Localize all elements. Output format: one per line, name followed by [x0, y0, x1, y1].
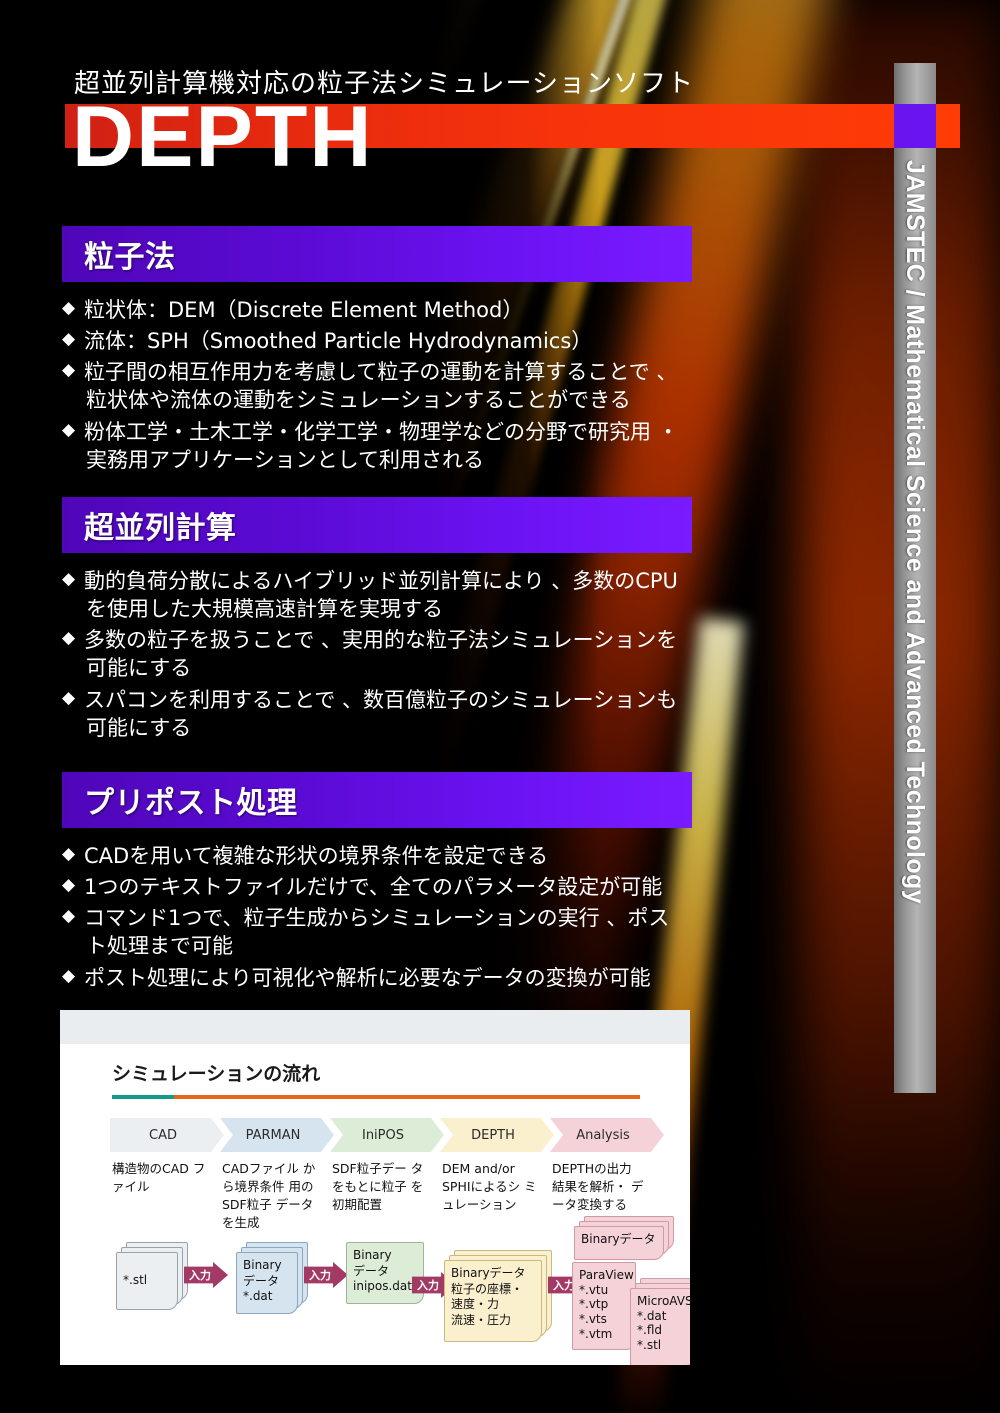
bullet-line-2: 可能にする [84, 714, 692, 742]
flow-step-label: Analysis [576, 1128, 638, 1143]
bullet-line-2: 可能にする [84, 654, 692, 682]
file-analysis-binary: Binaryデータ [574, 1226, 664, 1260]
section-massively-parallel: 超並列計算 ◆ 動的負荷分散によるハイブリッド並列計算により 、多数のCPU を… [62, 497, 692, 745]
file-analysis-paraview: ParaView *.vtu *.vtp *.vts *.vtm [572, 1262, 636, 1350]
file-depth: Binaryデータ 粒子の座標・ 速度・力 流速・圧力 [444, 1260, 542, 1342]
diamond-bullet-icon: ◆ [62, 626, 84, 652]
arrow-label: 入力 [309, 1267, 331, 1283]
bullet-line-2: 粒状体や流体の運動をシミュレーションすることができる [84, 386, 692, 414]
file-label: *.stl [123, 1273, 147, 1289]
flow-step-label: IniPOS [362, 1128, 412, 1143]
arrow-input-2: 入力 [304, 1262, 348, 1288]
diamond-bullet-icon: ◆ [62, 358, 84, 384]
section-title-1: 粒子法 [84, 232, 176, 276]
bullet-line: 粉体工学・土木工学・化学工学・物理学などの分野で研究用 ・ [84, 420, 679, 444]
diamond-bullet-icon: ◆ [62, 964, 84, 990]
flow-desc-inipos: SDF粒子デー タをもとに粒子 を初期配置 [332, 1160, 428, 1214]
bullet-line: 流体：SPH（Smoothed Particle Hydrodynamics） [84, 329, 592, 353]
flow-steps: CAD PARMAN IniPOS DEPTH Analysis [110, 1118, 645, 1152]
bullet-line: ポスト処理により可視化や解析に必要なデータの変換が可能 [84, 966, 651, 990]
file-analysis-microavs: MicroAVS *.dat *.fld *.stl [630, 1288, 690, 1365]
section-header-1: 粒子法 [62, 226, 692, 282]
bullet-line: 1つのテキストファイルだけで、全てのパラメータ設定が可能 [84, 875, 662, 899]
arrow-label: 入力 [417, 1277, 439, 1293]
flow-diagram-panel: シミュレーションの流れ CAD PARMAN IniPOS DEPTH Anal… [60, 1010, 690, 1365]
list-item: ◆ 流体：SPH（Smoothed Particle Hydrodynamics… [62, 327, 692, 355]
arrow-label: 入力 [189, 1267, 211, 1283]
flow-step-label: CAD [149, 1128, 185, 1143]
flow-title: シミュレーションの流れ [112, 1059, 320, 1086]
flow-desc-cad: 構造物のCAD ファイル [112, 1160, 208, 1196]
section-bullets-1: ◆ 粒状体：DEM（Discrete Element Method） ◆ 流体：… [62, 296, 692, 474]
flow-step-label: PARMAN [246, 1128, 309, 1143]
flow-step-parman: PARMAN [220, 1118, 334, 1152]
list-item: ◆ 動的負荷分散によるハイブリッド並列計算により 、多数のCPU を使用した大規… [62, 567, 692, 623]
diamond-bullet-icon: ◆ [62, 873, 84, 899]
bullet-line: スパコンを利用することで 、数百億粒子のシミュレーションも [84, 688, 677, 712]
list-item: ◆ 粉体工学・土木工学・化学工学・物理学などの分野で研究用 ・ 実務用アプリケー… [62, 418, 692, 474]
bullet-line: コマンド1つで、粒子生成からシミュレーションの実行 、ポス [84, 906, 669, 930]
file-inipos: Binary データ inipos.dat [346, 1242, 424, 1304]
bullet-line: 粒状体：DEM（Discrete Element Method） [84, 298, 523, 322]
diamond-bullet-icon: ◆ [62, 327, 84, 353]
side-strip-label: JAMSTEC / Mathematical Science and Advan… [894, 160, 936, 1090]
flow-desc-parman: CADファイル から境界条件 用のSDF粒子 データを生成 [222, 1160, 318, 1233]
bullet-line-2: ト処理まで可能 [84, 932, 692, 960]
file-cad: *.stl [116, 1252, 178, 1310]
bullet-line: 粒子間の相互作用力を考慮して粒子の運動を計算することで 、 [84, 360, 677, 384]
flow-step-inipos: IniPOS [330, 1118, 444, 1152]
flow-step-label: DEPTH [471, 1128, 523, 1143]
diamond-bullet-icon: ◆ [62, 418, 84, 444]
page-title: DEPTH [72, 94, 373, 180]
flow-title-rule [112, 1095, 640, 1099]
rule-segment-orange [174, 1095, 640, 1099]
flow-step-cad: CAD [110, 1118, 224, 1152]
bullet-line: CADを用いて複雑な形状の境界条件を設定できる [84, 844, 548, 868]
diamond-bullet-icon: ◆ [62, 904, 84, 930]
diamond-bullet-icon: ◆ [62, 686, 84, 712]
list-item: ◆ スパコンを利用することで 、数百億粒子のシミュレーションも 可能にする [62, 686, 692, 742]
poster-root: 超並列計算機対応の粒子法シミュレーションソフト DEPTH JAMSTEC / … [0, 0, 1000, 1413]
section-bullets-3: ◆ CADを用いて複雑な形状の境界条件を設定できる ◆ 1つのテキストファイルだ… [62, 842, 692, 992]
rule-segment-teal [112, 1095, 174, 1099]
section-pre-post-processing: プリポスト処理 ◆ CADを用いて複雑な形状の境界条件を設定できる ◆ 1つのテ… [62, 772, 692, 995]
bullet-line-2: 実務用アプリケーションとして利用される [84, 446, 692, 474]
list-item: ◆ 粒状体：DEM（Discrete Element Method） [62, 296, 692, 324]
list-item: ◆ 多数の粒子を扱うことで 、実用的な粒子法シミュレーションを 可能にする [62, 626, 692, 682]
bullet-line: 動的負荷分散によるハイブリッド並列計算により 、多数のCPU [84, 569, 678, 593]
file-parman: Binary データ *.dat [236, 1252, 298, 1314]
panel-top-band [60, 1010, 690, 1044]
arrow-input-1: 入力 [184, 1262, 228, 1288]
section-title-2: 超並列計算 [84, 503, 237, 547]
diamond-bullet-icon: ◆ [62, 296, 84, 322]
list-item: ◆ ポスト処理により可視化や解析に必要なデータの変換が可能 [62, 964, 692, 992]
flow-step-analysis: Analysis [550, 1118, 664, 1152]
bullet-line: 多数の粒子を扱うことで 、実用的な粒子法シミュレーションを [84, 628, 677, 652]
bullet-line-2: を使用した大規模高速計算を実現する [84, 595, 692, 623]
list-item: ◆ 1つのテキストファイルだけで、全てのパラメータ設定が可能 [62, 873, 692, 901]
flow-desc-depth: DEM and/or SPHIによるシ ミュレーション [442, 1160, 538, 1214]
section-header-2: 超並列計算 [62, 497, 692, 553]
diamond-bullet-icon: ◆ [62, 842, 84, 868]
list-item: ◆ コマンド1つで、粒子生成からシミュレーションの実行 、ポス ト処理まで可能 [62, 904, 692, 960]
flow-step-depth: DEPTH [440, 1118, 554, 1152]
list-item: ◆ CADを用いて複雑な形状の境界条件を設定できる [62, 842, 692, 870]
section-header-3: プリポスト処理 [62, 772, 692, 828]
flow-desc-analysis: DEPTHの出力 結果を解析・ データ変換する [552, 1160, 648, 1214]
section-bullets-2: ◆ 動的負荷分散によるハイブリッド並列計算により 、多数のCPU を使用した大規… [62, 567, 692, 742]
list-item: ◆ 粒子間の相互作用力を考慮して粒子の運動を計算することで 、 粒状体や流体の運… [62, 358, 692, 414]
section-particle-method: 粒子法 ◆ 粒状体：DEM（Discrete Element Method） ◆… [62, 226, 692, 477]
diamond-bullet-icon: ◆ [62, 567, 84, 593]
section-title-3: プリポスト処理 [84, 778, 298, 822]
side-strip-purple-square [894, 104, 936, 148]
